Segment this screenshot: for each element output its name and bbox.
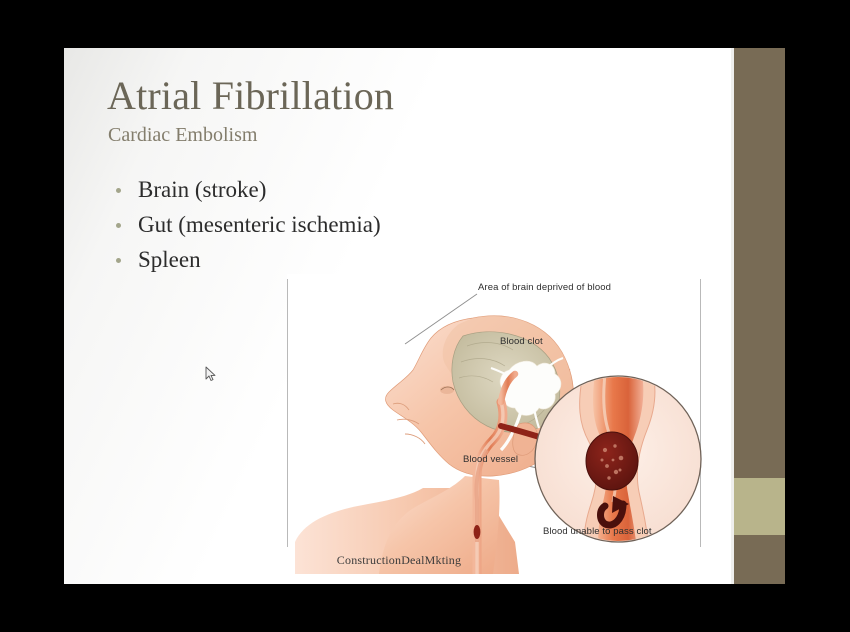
label-blood-clot: Blood clot [500, 336, 543, 347]
label-blood-vessel: Blood vessel [463, 454, 518, 465]
bullet-dot-icon [116, 188, 121, 193]
sidebar-accent-block [734, 478, 785, 535]
video-player-frame: Atrial Fibrillation Cardiac Embolism Bra… [0, 0, 850, 632]
page-title: Atrial Fibrillation [107, 74, 707, 117]
list-item-label: Gut (mesenteric ischemia) [138, 212, 381, 237]
mouse-cursor [205, 366, 217, 382]
presentation-slide: Atrial Fibrillation Cardiac Embolism Bra… [64, 48, 785, 584]
list-item: Gut (mesenteric ischemia) [114, 208, 381, 243]
list-item: Spleen [114, 243, 381, 278]
page-subtitle: Cardiac Embolism [108, 124, 707, 146]
slide-sidebar-decoration [734, 48, 785, 584]
slide-content-area: Atrial Fibrillation Cardiac Embolism Bra… [64, 48, 734, 584]
list-item: Brain (stroke) [114, 173, 381, 208]
medical-illustration: Area of brain deprived of blood Blood cl… [287, 274, 702, 574]
bullet-dot-icon [116, 258, 121, 263]
bullet-list: Brain (stroke) Gut (mesenteric ischemia)… [114, 173, 381, 278]
label-area-of-brain: Area of brain deprived of blood [478, 282, 611, 293]
bullet-dot-icon [116, 223, 121, 228]
watermark-text: ConstructionDealMkting [64, 553, 734, 568]
title-block: Atrial Fibrillation Cardiac Embolism [107, 74, 707, 146]
list-item-label: Brain (stroke) [138, 177, 266, 202]
list-item-label: Spleen [138, 247, 201, 272]
label-blood-unable-to-pass-clot: Blood unable to pass clot [543, 526, 652, 537]
